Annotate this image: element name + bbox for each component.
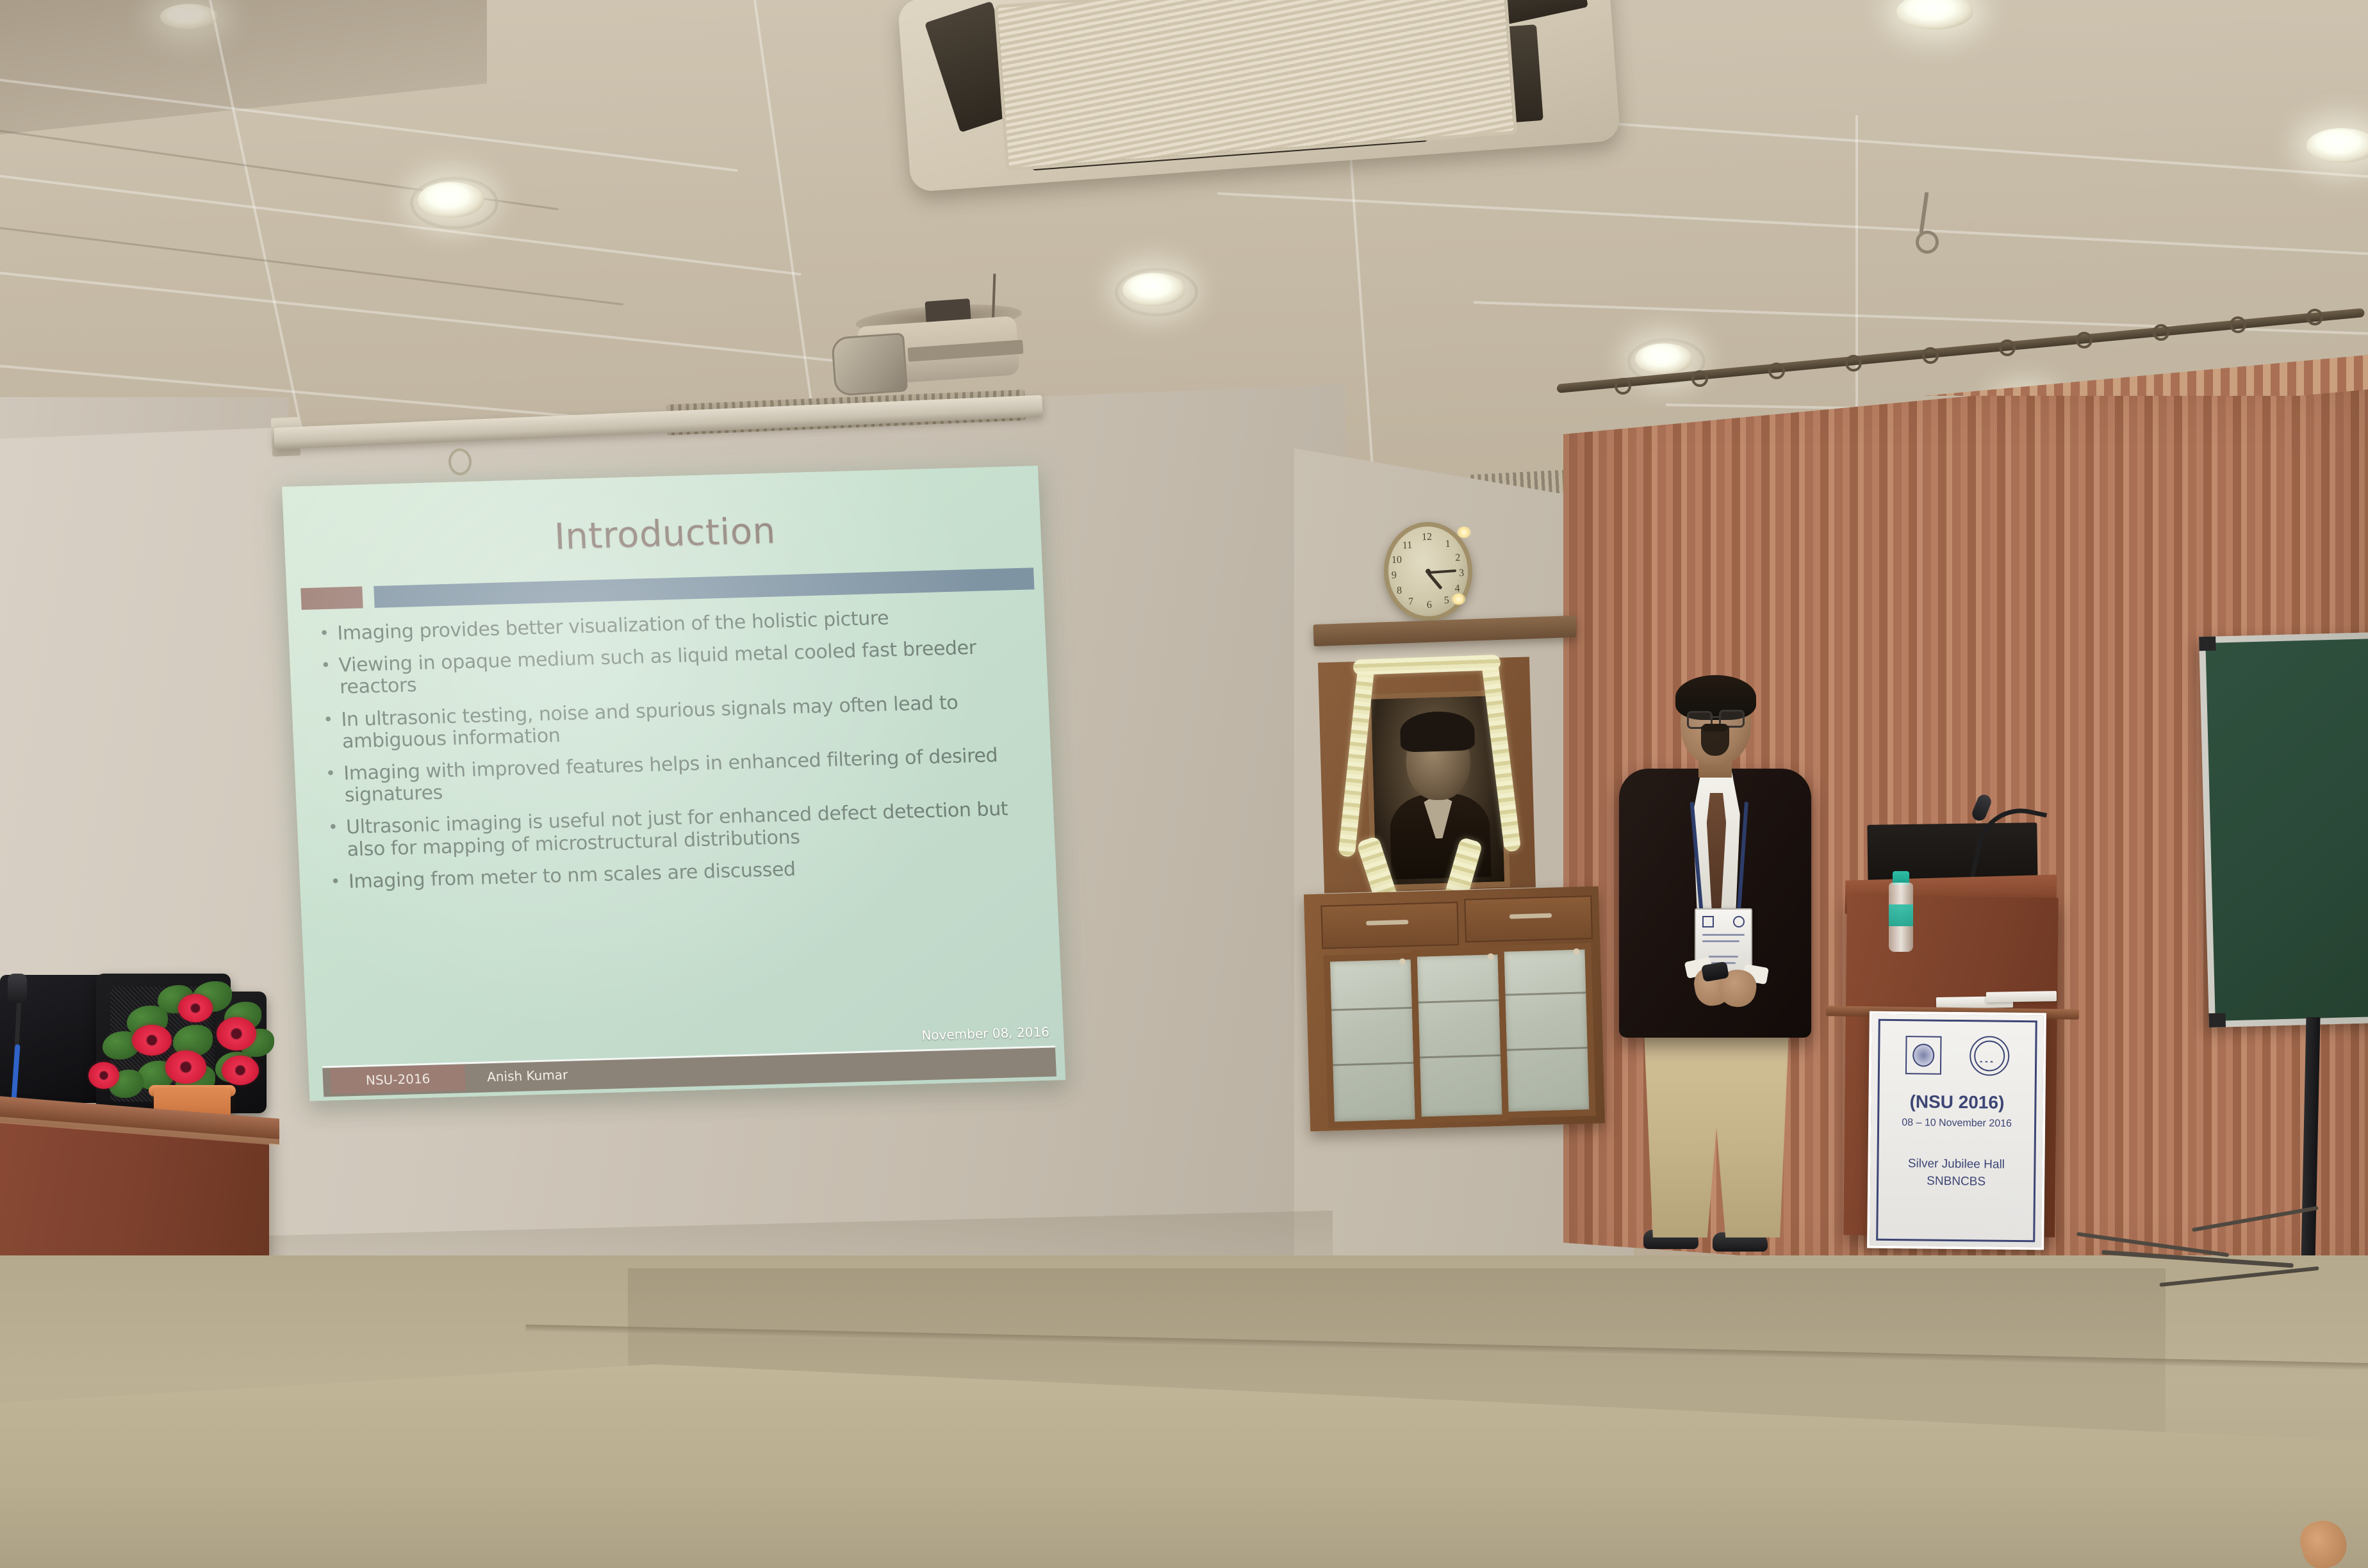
bullet-dot-icon: • — [323, 711, 333, 728]
bullet-text: Viewing in opaque medium such as liquid … — [338, 636, 1032, 699]
gerbera-flower — [132, 1025, 172, 1056]
projection-screen: Introduction • Imaging provides better v… — [282, 466, 1065, 1101]
presenter — [1605, 680, 1829, 1263]
cabinet-shelf — [1333, 1062, 1413, 1066]
snbncbs-emblem-logo-icon — [1905, 1036, 1942, 1075]
cabinet-drawer[interactable] — [1464, 895, 1593, 943]
clock-number-1: 1 — [1442, 539, 1454, 551]
podium-sign-logos — [1905, 1035, 2010, 1076]
cabinet-shelf — [1418, 999, 1499, 1004]
badge-logo-right-icon — [1733, 916, 1745, 927]
cabinet-glass-door[interactable] — [1324, 953, 1422, 1129]
gerbera-flower — [88, 1062, 119, 1089]
board-surface[interactable] — [2205, 638, 2368, 1021]
presentation-slide: Introduction • Imaging provides better v… — [297, 476, 1057, 1097]
slide-accent-bar — [374, 568, 1034, 608]
badge-text-line — [1702, 934, 1745, 936]
curtain-ring — [1922, 347, 1939, 364]
curtain-ring — [1999, 339, 2016, 356]
eyeglasses-bridge — [1710, 716, 1719, 718]
slide-accent-square — [300, 587, 363, 610]
list-item: • In ultrasonic testing, noise and spuri… — [323, 690, 1035, 753]
ceiling-downlight — [160, 4, 218, 29]
cabinet-shelf — [1507, 1047, 1588, 1051]
bullet-dot-icon: • — [328, 819, 338, 836]
bullet-dot-icon: • — [325, 765, 336, 782]
conference-hall-photo: 12 1 2 3 4 5 6 7 8 9 10 11 — [0, 0, 2368, 1568]
gerbera-flower — [217, 1017, 256, 1050]
podium-sign-inner-border: (NSU 2016) 08 – 10 November 2016 Silver … — [1876, 1019, 2037, 1243]
podium-sign-venue1: Silver Jubilee Hall — [1908, 1157, 2005, 1172]
curtain-ring — [2076, 332, 2093, 348]
projector-lens — [831, 332, 908, 396]
gerbera-flower — [222, 1056, 259, 1085]
curtain-ring — [1768, 363, 1785, 379]
bullet-text: In ultrasonic testing, noise and spuriou… — [341, 690, 1035, 753]
cabinet-drawer[interactable] — [1320, 902, 1459, 949]
badge-logo-left-icon — [1702, 916, 1714, 927]
curtain-ring — [1691, 370, 1708, 387]
clock-number-8: 8 — [1394, 585, 1406, 597]
trousers — [1641, 1026, 1792, 1237]
slide-footer-conference: NSU-2016 — [330, 1065, 466, 1094]
bullet-dot-icon: • — [319, 625, 329, 642]
curtain-ring — [2230, 316, 2246, 333]
curtain-ring — [1615, 378, 1631, 395]
gerbera-flower — [178, 994, 213, 1022]
green-writing-board[interactable] — [2199, 632, 2368, 1027]
clock-number-3: 3 — [1456, 568, 1468, 580]
curtain-ring — [1845, 355, 1862, 372]
list-item: • Imaging with improved features helps i… — [325, 744, 1037, 807]
ultrasonic-wave-icon — [1978, 1054, 2000, 1062]
slide-footer-date: November 08, 2016 — [921, 1024, 1050, 1043]
curtain-ring — [2306, 309, 2323, 325]
wooden-cabinet[interactable] — [1304, 886, 1605, 1132]
cabinet-shelf — [1331, 1007, 1412, 1011]
slide-accent-row — [300, 568, 1034, 610]
clock-number-5: 5 — [1441, 595, 1453, 607]
clock-minute-hand — [1428, 569, 1456, 574]
bullet-dot-icon: • — [320, 657, 331, 674]
bottle-label — [1889, 904, 1913, 926]
podium-papers — [1986, 991, 2057, 1002]
board-frame — [2199, 632, 2368, 1027]
podium-sign-dates: 08 – 10 November 2016 — [1902, 1117, 2012, 1130]
clock-number-7: 7 — [1405, 596, 1417, 608]
slide-bullet-list: • Imaging provides better visualization … — [302, 603, 1054, 1043]
podium-sign: (NSU 2016) 08 – 10 November 2016 Silver … — [1867, 1011, 2046, 1250]
ceiling-downlight — [1122, 273, 1185, 306]
goatee-beard — [1701, 726, 1729, 756]
ceiling-hook — [1916, 231, 1939, 254]
list-item: • Ultrasonic imaging is useful not just … — [328, 797, 1040, 861]
portrait-photograph — [1371, 696, 1504, 885]
microphone-head — [8, 974, 27, 1003]
clock-number-6: 6 — [1424, 600, 1436, 612]
bullet-text: Ultrasonic imaging is useful not just fo… — [345, 797, 1039, 860]
bullet-text: Imaging from meter to nm scales are disc… — [348, 852, 1040, 893]
board-corner — [2199, 637, 2216, 651]
clock-number-9: 9 — [1388, 570, 1401, 582]
bullet-dot-icon: • — [330, 873, 340, 890]
bullet-text: Imaging with improved features helps in … — [343, 744, 1037, 806]
ultrasonics-society-logo-icon — [1969, 1036, 2010, 1076]
clock-number-11: 11 — [1401, 540, 1413, 552]
podium-sign-title: (NSU 2016) — [1909, 1091, 2004, 1113]
clock-number-10: 10 — [1391, 554, 1403, 566]
ceiling-downlight — [418, 182, 484, 218]
badge-text-line — [1702, 940, 1739, 942]
clock-number-2: 2 — [1452, 552, 1464, 564]
cabinet-glass-door[interactable] — [1410, 948, 1508, 1123]
clock-hour-hand — [1427, 572, 1442, 590]
cabinet-glass-door[interactable] — [1497, 943, 1595, 1118]
ceiling-downlight — [1635, 343, 1693, 374]
list-item: • Viewing in opaque medium such as liqui… — [320, 636, 1032, 699]
podium-sign-venue2: SNBNCBS — [1927, 1175, 1986, 1189]
clock-number-12: 12 — [1421, 532, 1433, 544]
badge-text-line — [1709, 956, 1738, 958]
slide-title: Introduction — [298, 503, 1033, 565]
cabinet-shelf — [1505, 992, 1586, 996]
curtain-ring — [2153, 324, 2169, 341]
cabinet-shelf — [1420, 1054, 1501, 1059]
gerbera-flower — [165, 1050, 206, 1084]
portrait-hair — [1400, 710, 1476, 752]
board-corner — [2208, 1013, 2226, 1027]
